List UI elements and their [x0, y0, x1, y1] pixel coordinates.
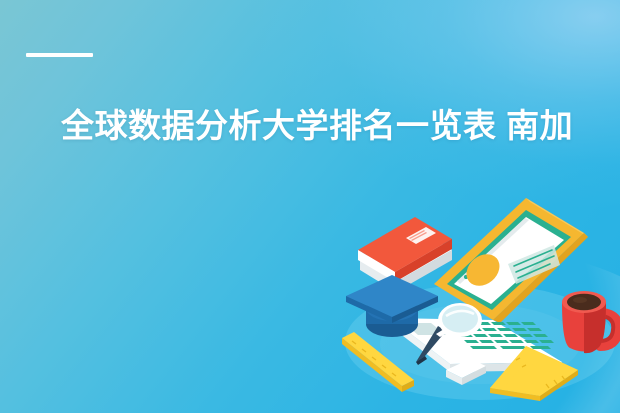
article-cover-banner: 全球数据分析大学排名一览表 南加	[0, 0, 620, 413]
page-title: 全球数据分析大学排名一览表 南加	[61, 104, 620, 148]
isometric-study-desk-illustration	[330, 192, 620, 413]
decorative-rule	[26, 53, 93, 57]
coffee-mug	[562, 291, 618, 353]
